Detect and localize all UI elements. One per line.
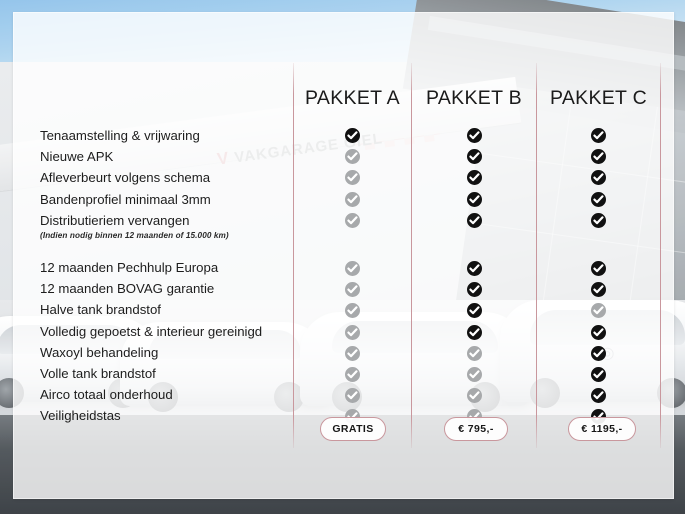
column-header-pakket-b[interactable]: PAKKET B (412, 86, 536, 110)
check-icon (345, 303, 360, 318)
table-row (412, 189, 536, 210)
check-icon (591, 149, 606, 164)
table-row (412, 300, 536, 321)
check-icon (345, 346, 360, 361)
table-row (537, 258, 660, 279)
table-row (294, 125, 411, 146)
check-icon (591, 346, 606, 361)
feature-label: Afleverbeurt volgens schema (40, 167, 290, 188)
table-row (412, 125, 536, 146)
check-icon (591, 303, 606, 318)
check-icon (467, 149, 482, 164)
table-row (537, 210, 660, 231)
pricing-table-screen: V VAKGARAGE GIEL ◎ (0, 0, 685, 514)
table-row (537, 343, 660, 364)
table-row (294, 322, 411, 343)
table-row (294, 385, 411, 406)
check-icon (345, 192, 360, 207)
table-row (412, 364, 536, 385)
check-icon (345, 282, 360, 297)
check-icon (345, 170, 360, 185)
table-row (412, 167, 536, 188)
table-row (537, 167, 660, 188)
column-header-pakket-c[interactable]: PAKKET C (537, 86, 660, 110)
feature-label: Tenaamstelling & vrijwaring (40, 125, 290, 146)
check-column-pakket-c (537, 125, 660, 427)
table-row (294, 189, 411, 210)
group-separator (40, 241, 290, 257)
check-icon (467, 367, 482, 382)
table-row (412, 279, 536, 300)
price-pill-pakket-b[interactable]: € 795,- (444, 417, 508, 441)
table-row (412, 258, 536, 279)
feature-label: Veiligheidstas (40, 405, 290, 426)
table-row (537, 125, 660, 146)
table-row (412, 343, 536, 364)
check-icon (345, 261, 360, 276)
check-icon (345, 213, 360, 228)
check-icon (591, 282, 606, 297)
table-row (537, 385, 660, 406)
check-icon (345, 128, 360, 143)
feature-label: 12 maanden BOVAG garantie (40, 278, 290, 299)
table-row (294, 343, 411, 364)
table-row (294, 300, 411, 321)
feature-label: Volledig gepoetst & interieur gereinigd (40, 321, 290, 342)
check-icon (345, 325, 360, 340)
table-row (537, 364, 660, 385)
check-icon (467, 192, 482, 207)
table-row (537, 146, 660, 167)
footnote-spacer (412, 231, 536, 242)
column-header-pakket-a[interactable]: PAKKET A (294, 86, 411, 110)
table-row (537, 300, 660, 321)
feature-label: Volle tank brandstof (40, 363, 290, 384)
feature-label: Airco totaal onderhoud (40, 384, 290, 405)
check-icon (467, 170, 482, 185)
check-icon (591, 261, 606, 276)
group-separator (412, 242, 536, 258)
feature-label: 12 maanden Pechhulp Europa (40, 257, 290, 278)
check-icon (345, 149, 360, 164)
comparison-table: PAKKET A PAKKET B PAKKET C Tenaamstellin… (14, 13, 673, 498)
group-separator (294, 242, 411, 258)
feature-label: Nieuwe APK (40, 146, 290, 167)
table-row (294, 167, 411, 188)
check-icon (467, 388, 482, 403)
price-pill-pakket-c[interactable]: € 1195,- (568, 417, 636, 441)
column-divider (660, 63, 661, 448)
check-icon (345, 367, 360, 382)
footnote-spacer (537, 231, 660, 242)
check-icon (591, 367, 606, 382)
feature-footnote: (Indien nodig binnen 12 maanden of 15.00… (40, 230, 290, 241)
check-icon (345, 388, 360, 403)
feature-label-list: Tenaamstelling & vrijwaring Nieuwe APK A… (40, 125, 290, 426)
check-icon (467, 325, 482, 340)
table-row (412, 210, 536, 231)
check-icon (467, 128, 482, 143)
table-row (537, 322, 660, 343)
check-column-pakket-b (412, 125, 536, 427)
check-icon (467, 282, 482, 297)
table-row (294, 364, 411, 385)
pricing-card: PAKKET A PAKKET B PAKKET C Tenaamstellin… (13, 12, 674, 499)
table-row (412, 146, 536, 167)
table-row (294, 146, 411, 167)
table-row (412, 322, 536, 343)
table-row (294, 258, 411, 279)
check-icon (467, 303, 482, 318)
price-pill-pakket-a[interactable]: GRATIS (320, 417, 386, 441)
table-row (294, 210, 411, 231)
footnote-spacer (294, 231, 411, 242)
check-icon (591, 128, 606, 143)
feature-label: Halve tank brandstof (40, 299, 290, 320)
check-icon (591, 170, 606, 185)
check-icon (467, 261, 482, 276)
feature-label: Bandenprofiel minimaal 3mm (40, 189, 290, 210)
check-icon (591, 388, 606, 403)
check-icon (467, 213, 482, 228)
feature-label: Waxoyl behandeling (40, 342, 290, 363)
table-row (537, 279, 660, 300)
table-row (412, 385, 536, 406)
table-row (537, 189, 660, 210)
check-icon (467, 346, 482, 361)
check-column-pakket-a (294, 125, 411, 427)
check-icon (591, 325, 606, 340)
table-row (294, 279, 411, 300)
group-separator (537, 242, 660, 258)
feature-label: Distributieriem vervangen (40, 210, 290, 231)
check-icon (591, 192, 606, 207)
check-icon (591, 213, 606, 228)
